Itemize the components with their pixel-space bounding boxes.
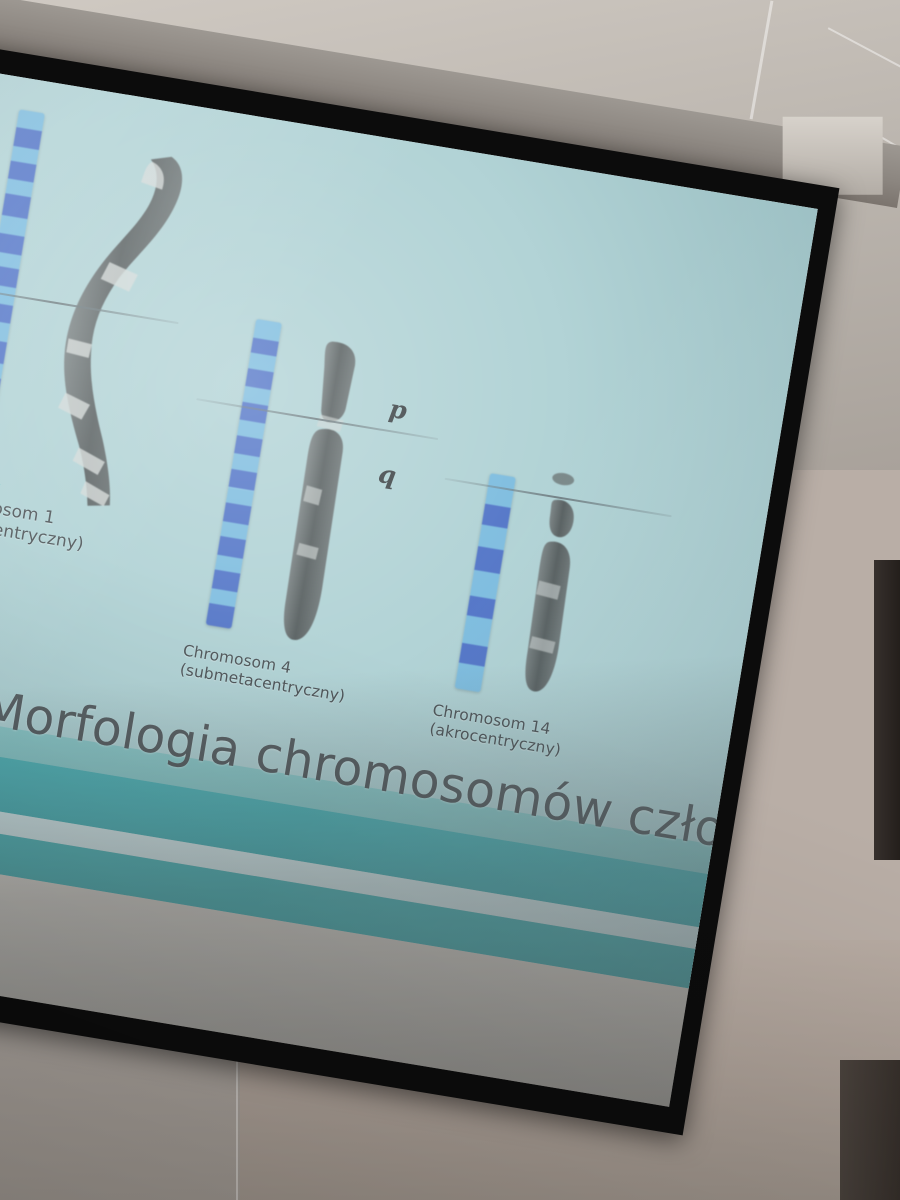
arm-label-q: q (376, 459, 398, 490)
chromosome-14-label: Chromosom 14 (akrocentryczny) (428, 701, 565, 760)
dark-wall-post-lower (840, 1060, 900, 1200)
chromosome-14-band-8 (455, 662, 485, 692)
chromosome-1-band-9 (0, 265, 19, 287)
chromosome-4-band-17 (206, 603, 235, 629)
chromosome-1-band-15 (0, 374, 1, 400)
chromosome-14-satellite (551, 471, 575, 486)
chromosome-14-band-6 (462, 615, 492, 647)
chromosome-1-photo (17, 135, 206, 521)
screen-surface: Chromosom 1 (metacentryczny) (0, 68, 818, 1107)
chromosome-1-band-12 (0, 320, 10, 342)
chromosome-4-label: Chromosom 4 (submetacentryczny) (178, 641, 349, 706)
arm-label-p: p (387, 394, 409, 425)
presentation-slide: Chromosom 1 (metacentryczny) (0, 68, 818, 988)
screen-black-border: Chromosom 1 (metacentryczny) (0, 41, 839, 1135)
dark-wall-post (874, 560, 900, 860)
chromosome-14-band-4 (470, 570, 500, 600)
chromosome-1-band-13 (0, 338, 7, 364)
photo-scene: Chromosom 1 (metacentryczny) (0, 0, 900, 1200)
chromosome-4-photo (253, 333, 383, 652)
chromosome-1-band-11 (0, 302, 13, 324)
